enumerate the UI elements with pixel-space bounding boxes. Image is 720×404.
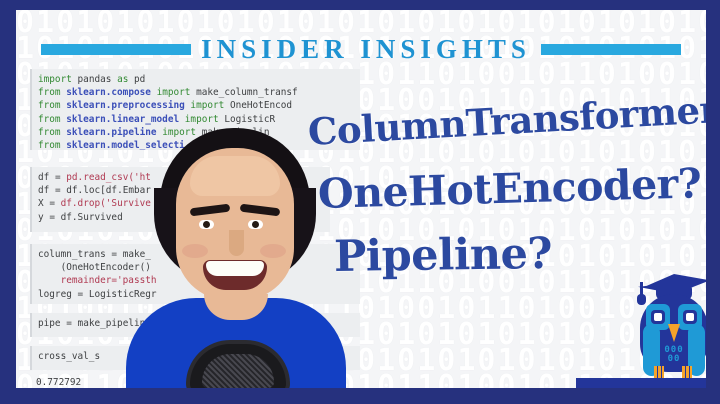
eye-right [248,220,263,229]
teeth [206,261,264,276]
thumbnail-card: 0101010101010101010101010101010101010101… [16,10,706,388]
nose [229,230,244,256]
code-line: from sklearn.compose import make_column_… [38,86,354,99]
pupil-left [203,221,210,228]
owl-chest-line-2: 00 [668,354,681,364]
owl-eye-right [678,304,702,330]
cheek-right [260,244,286,258]
owl-beak [668,324,680,342]
presenter-face [176,148,294,300]
code-line: import pandas as pd [38,73,354,86]
frame-top [0,0,720,10]
pupil-right [252,221,259,228]
cheek-left [182,244,208,258]
video-thumbnail: 0101010101010101010101010101010101010101… [0,0,720,404]
microphone-grille [202,354,274,388]
eyebrow-right [240,204,281,217]
frame-left [0,0,16,404]
header-title: INSIDER INSIGHTS [201,34,531,65]
owl-eye-left [646,304,670,330]
owl-foot-right [682,366,692,378]
headline-pipeline: Pipeline? [334,229,553,282]
frame-right [706,0,720,404]
owl-body: 00000 [640,294,706,372]
frame-bottom [0,388,720,404]
header-rule-left [41,44,191,55]
graduate-owl-icon: 00000 [628,266,706,386]
header-banner: INSIDER INSIGHTS [16,32,706,66]
owl-foot-left [654,366,664,378]
eyebrow-left [190,204,231,217]
mouth [203,260,267,290]
owl-cap-tassel [640,282,643,296]
header-rule-right [541,44,681,55]
eye-left [199,220,214,229]
owl-chest-binary: 00000 [664,346,683,364]
